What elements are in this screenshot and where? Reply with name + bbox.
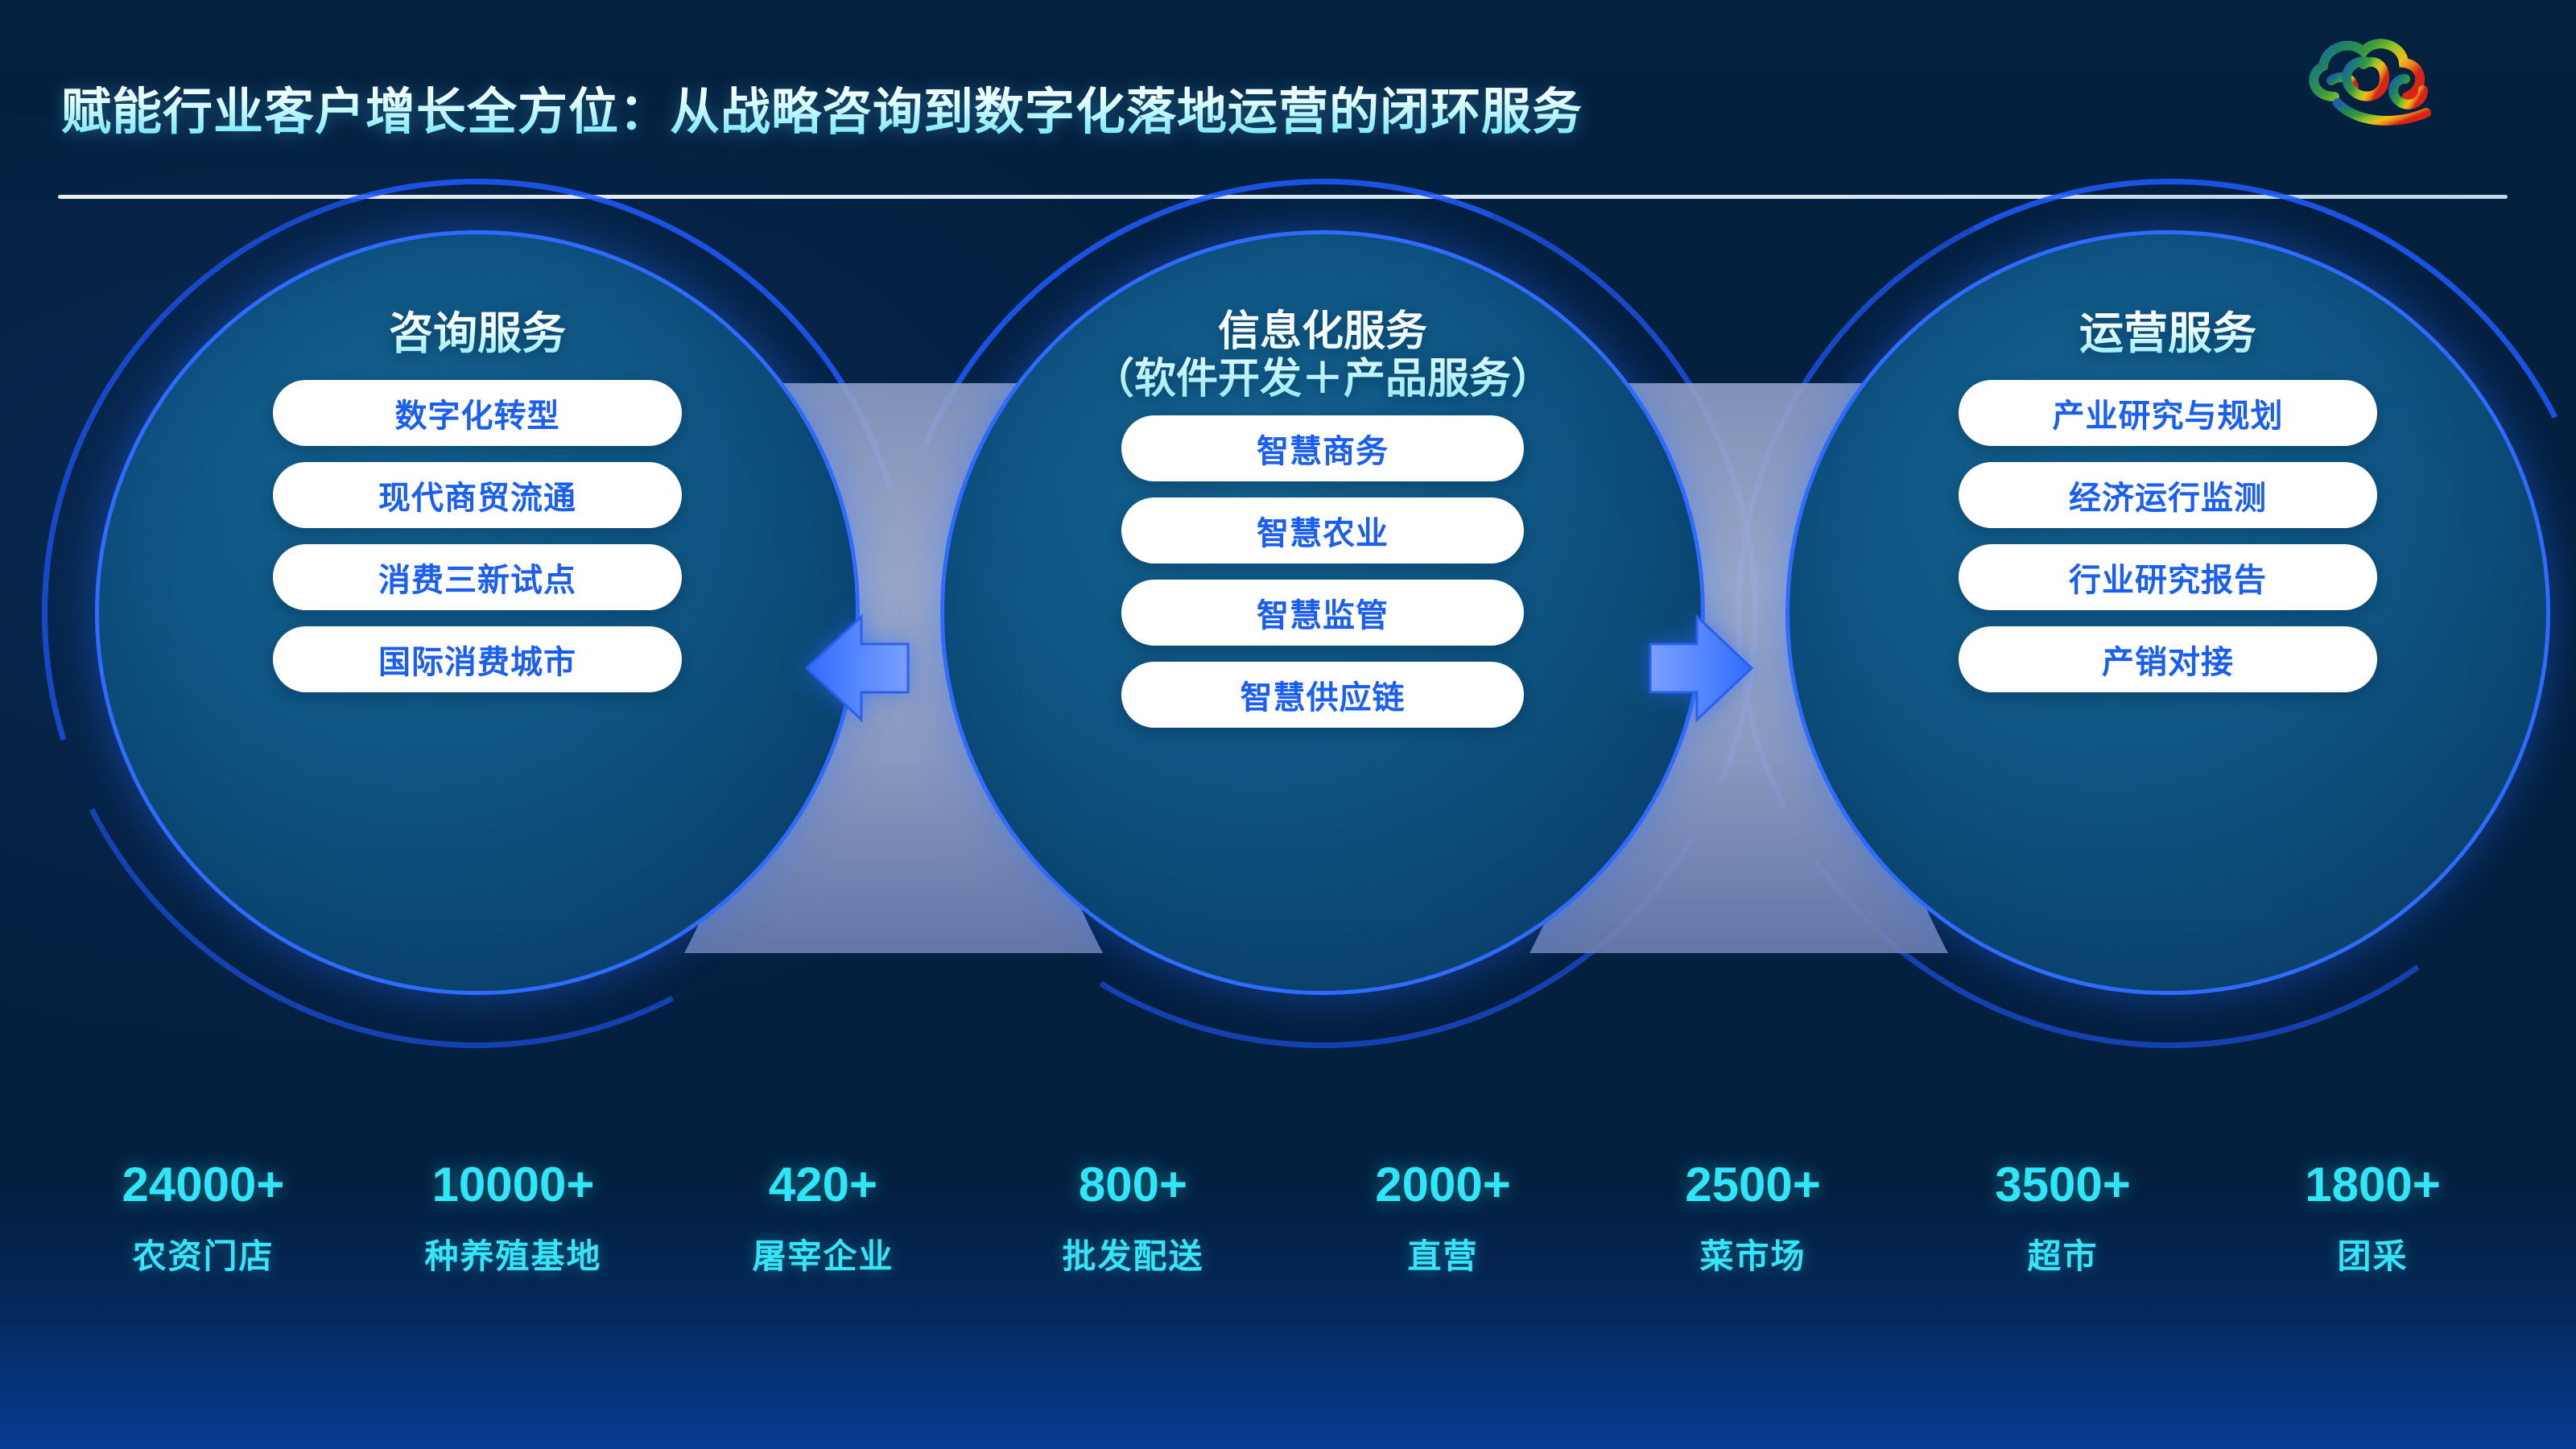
service-pill[interactable]: 智慧农业: [1121, 497, 1524, 563]
stat-value: 24000+: [48, 1159, 358, 1210]
stat-label: 超市: [1908, 1229, 2218, 1278]
circle-title: 咨询服务: [389, 308, 566, 359]
stat-label: 批发配送: [978, 1229, 1288, 1278]
stat-label: 农资门店: [48, 1229, 358, 1278]
circle-title-line2: （软件开发＋产品服务）: [1092, 356, 1553, 402]
stat-label: 菜市场: [1598, 1229, 1908, 1278]
stat-item: 800+ 批发配送: [978, 1159, 1288, 1278]
service-pill[interactable]: 智慧监管: [1121, 580, 1524, 646]
service-pill[interactable]: 产业研究与规划: [1959, 380, 2377, 446]
service-pill[interactable]: 经济运行监测: [1959, 462, 2377, 528]
arrow-left-icon: [805, 612, 910, 724]
page-header: 赋能行业客户增长全方位：从战略咨询到数字化落地运营的闭环服务: [0, 0, 2576, 201]
circle-title: 运营服务: [2079, 308, 2256, 359]
service-pill[interactable]: 行业研究报告: [1959, 544, 2377, 610]
service-pill[interactable]: 现代商贸流通: [273, 462, 682, 528]
stat-value: 10000+: [358, 1159, 668, 1210]
stat-item: 10000+ 种养殖基地: [358, 1159, 668, 1278]
service-pill[interactable]: 数字化转型: [273, 380, 682, 446]
service-pill[interactable]: 智慧商务: [1121, 415, 1524, 481]
stats-row: 24000+ 农资门店 10000+ 种养殖基地 420+ 屠宰企业 800+ …: [0, 1159, 2576, 1368]
stat-item: 2000+ 直营: [1288, 1159, 1598, 1278]
service-circle-operations[interactable]: 运营服务 产业研究与规划 经济运行监测 行业研究报告 产销对接: [1785, 230, 2550, 995]
service-pill[interactable]: 国际消费城市: [273, 626, 682, 692]
stat-value: 1800+: [2218, 1159, 2528, 1210]
stat-item: 3500+ 超市: [1908, 1159, 2218, 1278]
stat-value: 420+: [668, 1159, 978, 1210]
arrow-right-icon: [1649, 612, 1753, 724]
stat-value: 3500+: [1908, 1159, 2218, 1210]
service-pill[interactable]: 产销对接: [1959, 626, 2377, 692]
service-flow-diagram: 咨询服务 数字化转型 现代商贸流通 消费三新试点 国际消费城市 信息化服务 （软…: [0, 201, 2576, 1151]
stat-label: 屠宰企业: [668, 1229, 978, 1278]
rainbow-cloud-logo: [2285, 29, 2446, 135]
stat-item: 2500+ 菜市场: [1598, 1159, 1908, 1278]
stat-label: 种养殖基地: [358, 1229, 668, 1278]
stat-value: 2000+: [1288, 1159, 1598, 1210]
stat-item: 420+ 屠宰企业: [668, 1159, 978, 1278]
page-title: 赋能行业客户增长全方位：从战略咨询到数字化落地运营的闭环服务: [61, 71, 1583, 143]
stat-item: 24000+ 农资门店: [48, 1159, 358, 1278]
circle-title-line1: 信息化服务: [1218, 308, 1427, 355]
service-circle-consulting[interactable]: 咨询服务 数字化转型 现代商贸流通 消费三新试点 国际消费城市: [95, 230, 860, 995]
stat-item: 1800+ 团采: [2218, 1159, 2528, 1278]
stat-label: 直营: [1288, 1229, 1598, 1278]
circle-title: 信息化服务 （软件开发＋产品服务）: [1092, 308, 1553, 404]
stat-value: 2500+: [1598, 1159, 1908, 1210]
stat-value: 800+: [978, 1159, 1288, 1210]
stat-label: 团采: [2218, 1229, 2528, 1278]
service-circle-informatization[interactable]: 信息化服务 （软件开发＋产品服务） 智慧商务 智慧农业 智慧监管 智慧供应链: [940, 230, 1705, 995]
service-pill[interactable]: 智慧供应链: [1121, 662, 1524, 728]
service-pill[interactable]: 消费三新试点: [273, 544, 682, 610]
